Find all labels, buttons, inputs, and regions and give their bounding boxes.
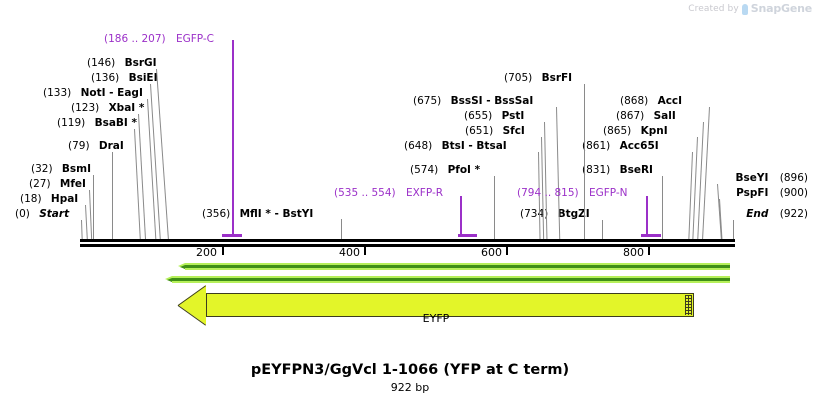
feature-label-egfp-n[interactable]: (794 .. 815) EGFP-N bbox=[517, 188, 628, 199]
enzyme-name: SfcI bbox=[503, 125, 525, 137]
enzyme-pos: (900) bbox=[780, 187, 808, 199]
primer-arrow-head-stroke bbox=[167, 278, 172, 282]
enzyme-pos: (0) bbox=[15, 208, 30, 220]
enzyme-name: BsrGI bbox=[125, 57, 157, 69]
enzyme-pos: (867) bbox=[616, 110, 644, 122]
feature-range: (535 .. 554) bbox=[334, 187, 396, 199]
page-subtitle: 922 bp bbox=[0, 381, 820, 394]
enzyme-name: MflI * - BstYI bbox=[240, 208, 314, 220]
enzyme-label-btsi-btsai[interactable]: (648) BtsI - BtsaI bbox=[404, 141, 507, 152]
snapgene-logo-icon bbox=[742, 4, 748, 15]
enzyme-label-pspfi[interactable]: PspFI (900) bbox=[640, 188, 808, 199]
enzyme-label-acc65i[interactable]: (861) Acc65I bbox=[582, 141, 659, 152]
enzyme-pos: (675) bbox=[413, 95, 441, 107]
feature-cap-egfp-c bbox=[222, 234, 242, 237]
enzyme-label-bsssi-bsssai[interactable]: (675) BssSI - BssSaI bbox=[413, 96, 533, 107]
leader-line bbox=[112, 152, 113, 241]
enzyme-name: MfeI bbox=[60, 178, 86, 190]
enzyme-name: PfoI * bbox=[448, 164, 481, 176]
enzyme-label-sali[interactable]: (867) SalI bbox=[616, 111, 676, 122]
leader-line bbox=[544, 122, 547, 241]
leader-line bbox=[602, 220, 603, 241]
enzyme-label-end[interactable]: End (922) bbox=[640, 209, 808, 220]
enzyme-pos: (123) bbox=[71, 102, 99, 114]
enzyme-name: HpaI bbox=[51, 193, 78, 205]
primer-arrow-stroke bbox=[172, 278, 730, 281]
ruler-tick-200 bbox=[222, 246, 224, 255]
ruler-label-400: 400 bbox=[339, 246, 360, 259]
cds-label-eyfp: EYFP bbox=[178, 312, 694, 325]
feature-range: (186 .. 207) bbox=[104, 33, 166, 45]
feature-name: EGFP-C bbox=[176, 33, 214, 45]
leader-line bbox=[89, 190, 92, 241]
enzyme-name: PspFI bbox=[736, 187, 768, 199]
enzyme-pos: (868) bbox=[620, 95, 648, 107]
feature-name: EXFP-R bbox=[406, 187, 443, 199]
primer-arrow-1[interactable] bbox=[178, 263, 730, 270]
enzyme-pos: (574) bbox=[410, 164, 438, 176]
leader-line bbox=[584, 84, 585, 241]
end-marker-label: End bbox=[746, 208, 768, 220]
primer-arrow-stroke bbox=[185, 265, 730, 268]
enzyme-label-xbai[interactable]: (123) XbaI * bbox=[71, 103, 144, 114]
enzyme-label-btgzi[interactable]: (734) BtgZI bbox=[520, 209, 590, 220]
ruler-tick-400 bbox=[364, 246, 366, 255]
enzyme-label-drai[interactable]: (79) DraI bbox=[68, 141, 124, 152]
leader-line bbox=[494, 176, 495, 241]
enzyme-name: BssSI - BssSaI bbox=[451, 95, 534, 107]
ruler-tick-600 bbox=[506, 246, 508, 255]
enzyme-name: BsaBI * bbox=[95, 117, 137, 129]
snapgene-watermark: Created by SnapGene bbox=[688, 2, 812, 15]
enzyme-pos: (79) bbox=[68, 140, 90, 152]
enzyme-name: BsiEI bbox=[129, 72, 158, 84]
page-title: pEYFPN3/GgVcl 1-1066 (YFP at C term) bbox=[0, 362, 820, 378]
enzyme-pos: (865) bbox=[603, 125, 631, 137]
feature-cap-exfp-r bbox=[458, 234, 477, 237]
feature-range: (794 .. 815) bbox=[517, 187, 579, 199]
enzyme-name: BtsI - BtsaI bbox=[442, 140, 507, 152]
enzyme-pos: (136) bbox=[91, 72, 119, 84]
enzyme-pos: (32) bbox=[31, 163, 53, 175]
feature-label-exfp-r[interactable]: (535 .. 554) EXFP-R bbox=[334, 188, 443, 199]
enzyme-pos: (648) bbox=[404, 140, 432, 152]
watermark-prefix: Created by bbox=[688, 4, 739, 14]
enzyme-name: SalI bbox=[654, 110, 676, 122]
enzyme-label-bsabi[interactable]: (119) BsaBI * bbox=[57, 118, 137, 129]
leader-line bbox=[85, 205, 88, 241]
enzyme-pos: (27) bbox=[29, 178, 51, 190]
enzyme-name: Acc65I bbox=[620, 140, 659, 152]
enzyme-label-pfoi[interactable]: (574) PfoI * bbox=[410, 165, 480, 176]
enzyme-pos: (356) bbox=[202, 208, 230, 220]
enzyme-pos: (831) bbox=[582, 164, 610, 176]
enzyme-pos: (18) bbox=[20, 193, 42, 205]
enzyme-label-bsrgi[interactable]: (146) BsrGI bbox=[87, 58, 157, 69]
enzyme-label-psti[interactable]: (655) PstI bbox=[464, 111, 524, 122]
enzyme-label-bsrfi[interactable]: (705) BsrFI bbox=[504, 73, 572, 84]
enzyme-label-mfei[interactable]: (27) MfeI bbox=[29, 179, 86, 190]
start-marker-label: Start bbox=[39, 208, 69, 220]
enzyme-label-mfli-bstyi[interactable]: (356) MflI * - BstYI bbox=[202, 209, 313, 220]
enzyme-label-acci[interactable]: (868) AccI bbox=[620, 96, 682, 107]
enzyme-pos: (119) bbox=[57, 117, 85, 129]
primer-arrow-2[interactable] bbox=[165, 276, 730, 283]
backbone-line-top bbox=[80, 239, 735, 242]
primer-arrow-head-stroke bbox=[180, 265, 185, 269]
leader-line bbox=[93, 175, 94, 241]
enzyme-name: PstI bbox=[502, 110, 525, 122]
enzyme-name: KpnI bbox=[641, 125, 668, 137]
ruler-tick-800 bbox=[648, 246, 650, 255]
enzyme-label-sfci[interactable]: (651) SfcI bbox=[465, 126, 525, 137]
feature-name: EGFP-N bbox=[589, 187, 628, 199]
enzyme-pos: (734) bbox=[520, 208, 548, 220]
enzyme-name: BseYI bbox=[736, 172, 769, 184]
enzyme-pos: (896) bbox=[780, 172, 808, 184]
enzyme-label-kpni[interactable]: (865) KpnI bbox=[603, 126, 668, 137]
enzyme-name: BsrFI bbox=[542, 72, 573, 84]
enzyme-name: NotI - EagI bbox=[81, 87, 143, 99]
enzyme-label-bseyi[interactable]: BseYI (896) bbox=[640, 173, 808, 184]
enzyme-pos: (705) bbox=[504, 72, 532, 84]
leader-line bbox=[81, 220, 83, 241]
enzyme-name: XbaI * bbox=[109, 102, 145, 114]
enzyme-pos: (146) bbox=[87, 57, 115, 69]
enzyme-label-noti-eagi[interactable]: (133) NotI - EagI bbox=[43, 88, 143, 99]
enzyme-pos: (922) bbox=[780, 208, 808, 220]
feature-label-egfp-c[interactable]: (186 .. 207) EGFP-C bbox=[104, 34, 214, 45]
enzyme-name: BsmI bbox=[62, 163, 91, 175]
enzyme-label-bsmi[interactable]: (32) BsmI bbox=[31, 164, 91, 175]
enzyme-pos: (651) bbox=[465, 125, 493, 137]
enzyme-name: DraI bbox=[99, 140, 124, 152]
leader-line bbox=[341, 219, 342, 241]
watermark-brand: SnapGene bbox=[751, 2, 812, 15]
ruler-label-600: 600 bbox=[481, 246, 502, 259]
ruler-label-200: 200 bbox=[196, 246, 217, 259]
leader-line bbox=[556, 107, 560, 241]
enzyme-pos: (133) bbox=[43, 87, 71, 99]
enzyme-pos: (655) bbox=[464, 110, 492, 122]
enzyme-label-start[interactable]: (0) Start bbox=[15, 209, 69, 220]
enzyme-label-hpai[interactable]: (18) HpaI bbox=[20, 194, 78, 205]
feature-bar-exfp-r[interactable] bbox=[460, 196, 462, 236]
feature-bar-egfp-c[interactable] bbox=[232, 40, 234, 236]
ruler-label-800: 800 bbox=[623, 246, 644, 259]
plasmid-map-canvas: Created by SnapGene (186 .. 207) EGFP-C … bbox=[0, 0, 820, 402]
feature-cap-egfp-n bbox=[641, 234, 661, 237]
leader-line bbox=[733, 220, 734, 241]
enzyme-label-bsiei[interactable]: (136) BsiEI bbox=[91, 73, 158, 84]
enzyme-name: AccI bbox=[658, 95, 682, 107]
enzyme-pos: (861) bbox=[582, 140, 610, 152]
